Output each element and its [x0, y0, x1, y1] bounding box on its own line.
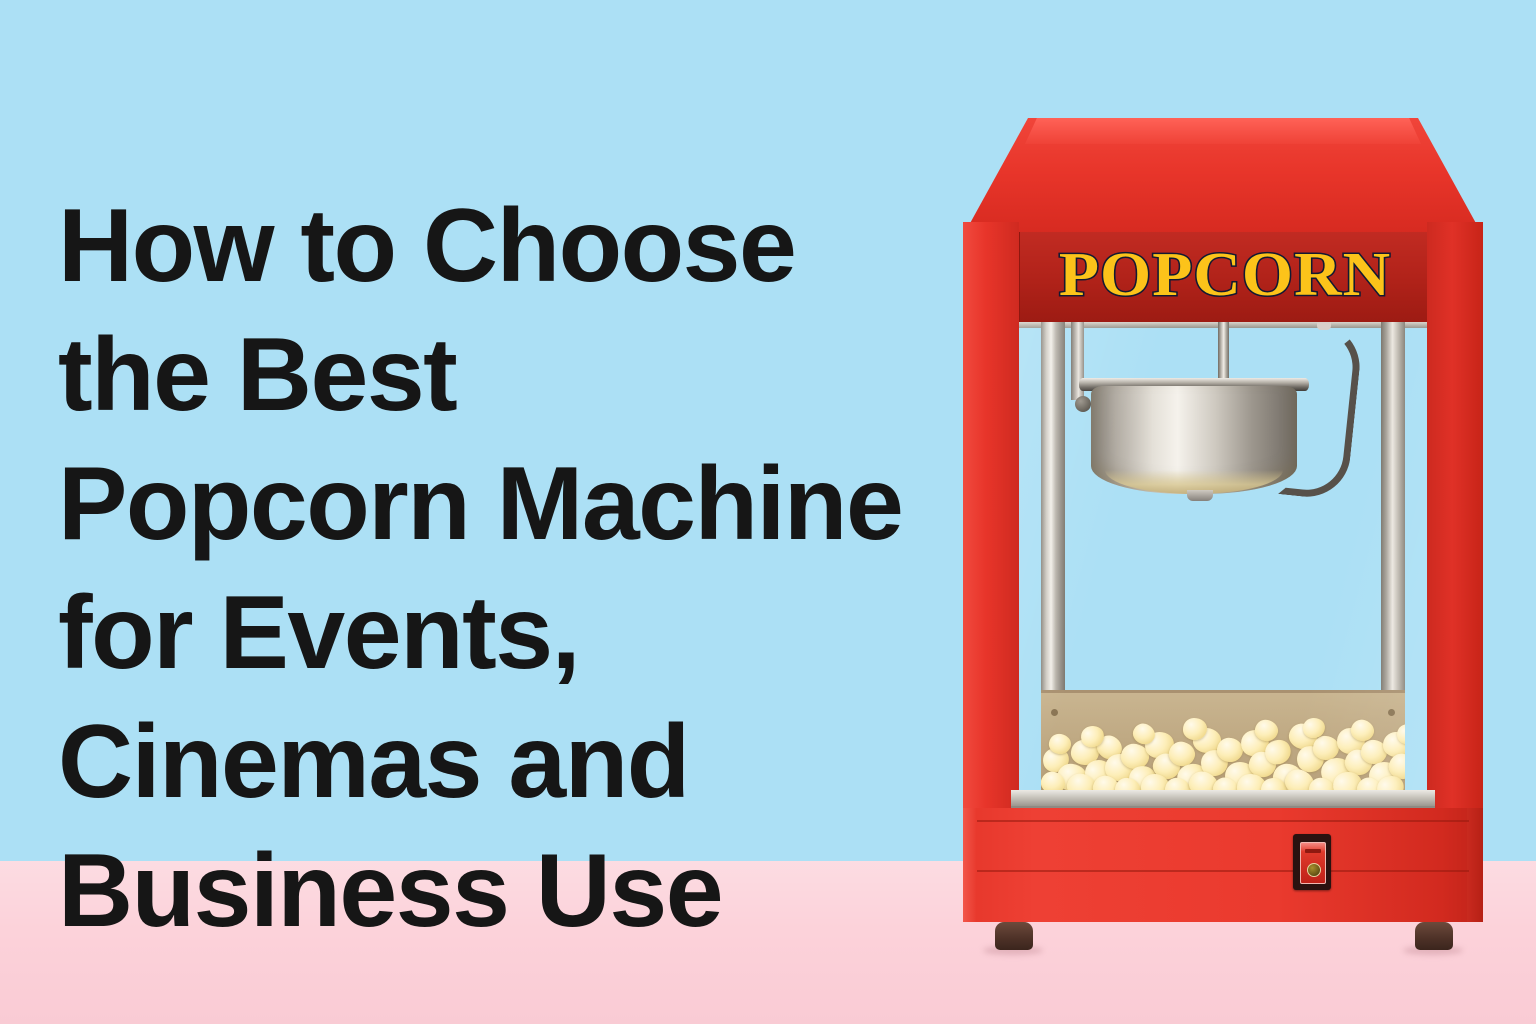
base-left-edge [963, 808, 977, 922]
glass-display-window [1019, 322, 1427, 794]
page-title: How to Choose the Best Popcorn Machine f… [58, 182, 988, 956]
rocker-paddle[interactable] [1300, 842, 1326, 884]
red-base-cabinet [963, 808, 1483, 922]
display-sill-bar [1011, 790, 1435, 806]
base-right-edge [1467, 808, 1483, 922]
base-panel-line-top [977, 820, 1469, 822]
poster-canvas: How to Choose the Best Popcorn Machine f… [0, 0, 1536, 1024]
rocker-slot [1305, 849, 1321, 853]
glass-reflection [1019, 322, 1427, 794]
power-indicator-light [1307, 863, 1321, 877]
base-panel-line-bottom [977, 870, 1469, 872]
roof-top-highlight [1025, 118, 1421, 144]
power-rocker-switch[interactable] [1293, 834, 1331, 890]
popcorn-sign-label: POPCORN [1018, 244, 1432, 306]
machine-roof [963, 118, 1483, 236]
cabinet-foot-right [1415, 922, 1453, 950]
popcorn-sign-panel: POPCORN [1018, 232, 1432, 322]
popcorn-machine: POPCORN [963, 118, 1483, 946]
cabinet-foot-left [995, 922, 1033, 950]
